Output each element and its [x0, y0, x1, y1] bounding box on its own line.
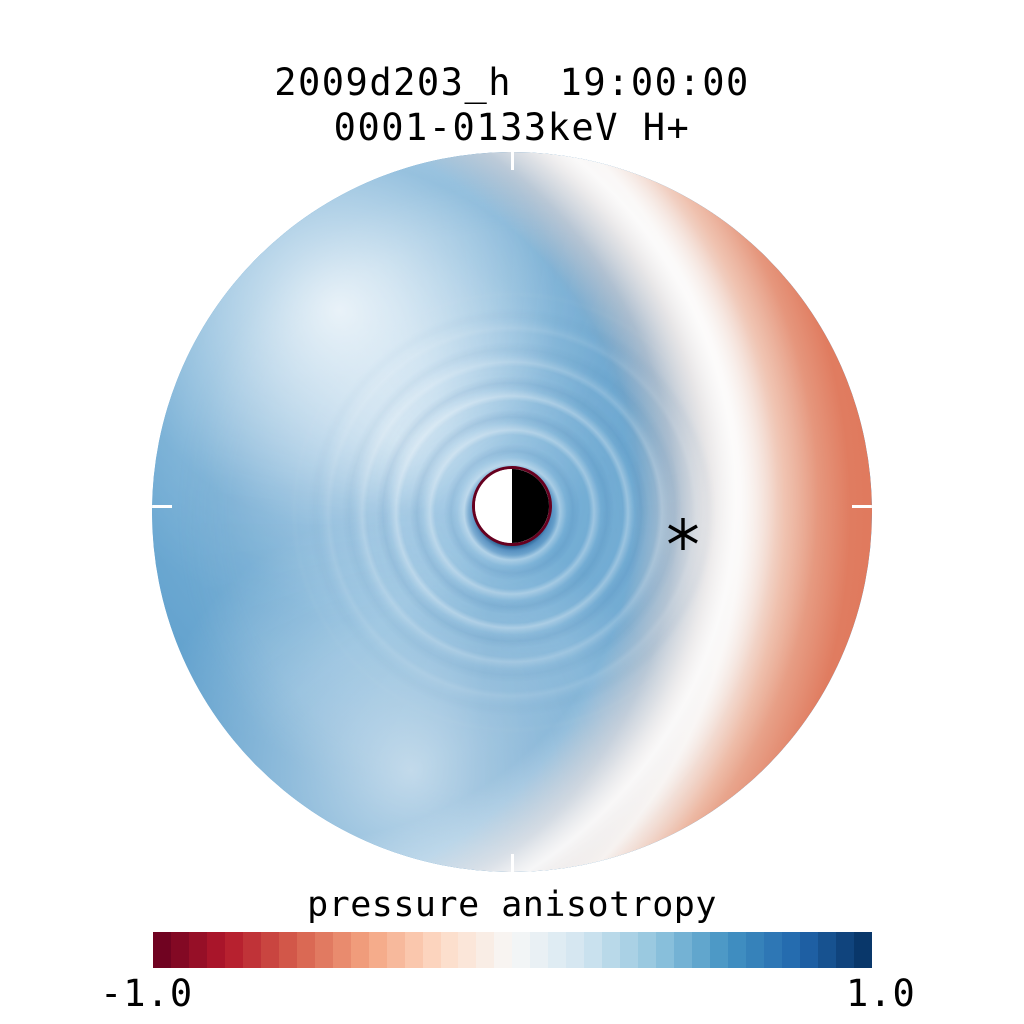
colorbar-band [710, 932, 728, 968]
colorbar-band [836, 932, 854, 968]
colorbar-band [548, 932, 566, 968]
polar-disk [152, 152, 872, 872]
colorbar-band [171, 932, 189, 968]
colorbar-band [494, 932, 512, 968]
colorbar-band [189, 932, 207, 968]
colorbar-min-label: -1.0 [100, 972, 193, 1015]
colorbar-band [764, 932, 782, 968]
colorbar-band [441, 932, 459, 968]
colorbar-band [584, 932, 602, 968]
earth-disk [472, 466, 552, 546]
colorbar-band [692, 932, 710, 968]
colorbar-band [638, 932, 656, 968]
plot-title-block: 2009d203_h 19:00:00 0001-0133keV H+ [0, 60, 1024, 150]
colorbar-band [423, 932, 441, 968]
spacecraft-asterisk-icon [666, 517, 700, 551]
colorbar-band [728, 932, 746, 968]
colorbar-band [153, 932, 171, 968]
colorbar-band [602, 932, 620, 968]
colorbar-max-label: 1.0 [846, 972, 916, 1015]
earth-nightside-hemisphere [512, 469, 549, 543]
colorbar-band [674, 932, 692, 968]
colorbar-band [297, 932, 315, 968]
earth-dayside-hemisphere [475, 469, 512, 543]
colorbar-band [800, 932, 818, 968]
colorbar-band [566, 932, 584, 968]
colorbar-band [656, 932, 674, 968]
colorbar-band [369, 932, 387, 968]
colorbar-band [782, 932, 800, 968]
axis-tick-left [152, 505, 172, 508]
colorbar-band [512, 932, 530, 968]
axis-tick-right [852, 505, 872, 508]
colorbar-band [279, 932, 297, 968]
colorbar-band [818, 932, 836, 968]
axis-tick-top [511, 152, 514, 170]
colorbar-band [351, 932, 369, 968]
colorbar-band [620, 932, 638, 968]
colorbar-band [207, 932, 225, 968]
axis-tick-bottom [511, 854, 514, 872]
colorbar-band [405, 932, 423, 968]
colorbar-title: pressure anisotropy [0, 885, 1024, 925]
colorbar-band [458, 932, 476, 968]
title-line-energy-species: 0001-0133keV H+ [0, 105, 1024, 150]
colorbar-band [746, 932, 764, 968]
colorbar-band [476, 932, 494, 968]
colorbar-band [225, 932, 243, 968]
polar-plot-area [152, 152, 872, 872]
colorbar-band [854, 932, 872, 968]
colorbar-band [333, 932, 351, 968]
colorbar-band [387, 932, 405, 968]
colorbar-band [530, 932, 548, 968]
colorbar-band [315, 932, 333, 968]
colorbar-band [261, 932, 279, 968]
title-line-timestamp: 2009d203_h 19:00:00 [0, 60, 1024, 105]
colorbar [153, 932, 872, 968]
colorbar-band [243, 932, 261, 968]
